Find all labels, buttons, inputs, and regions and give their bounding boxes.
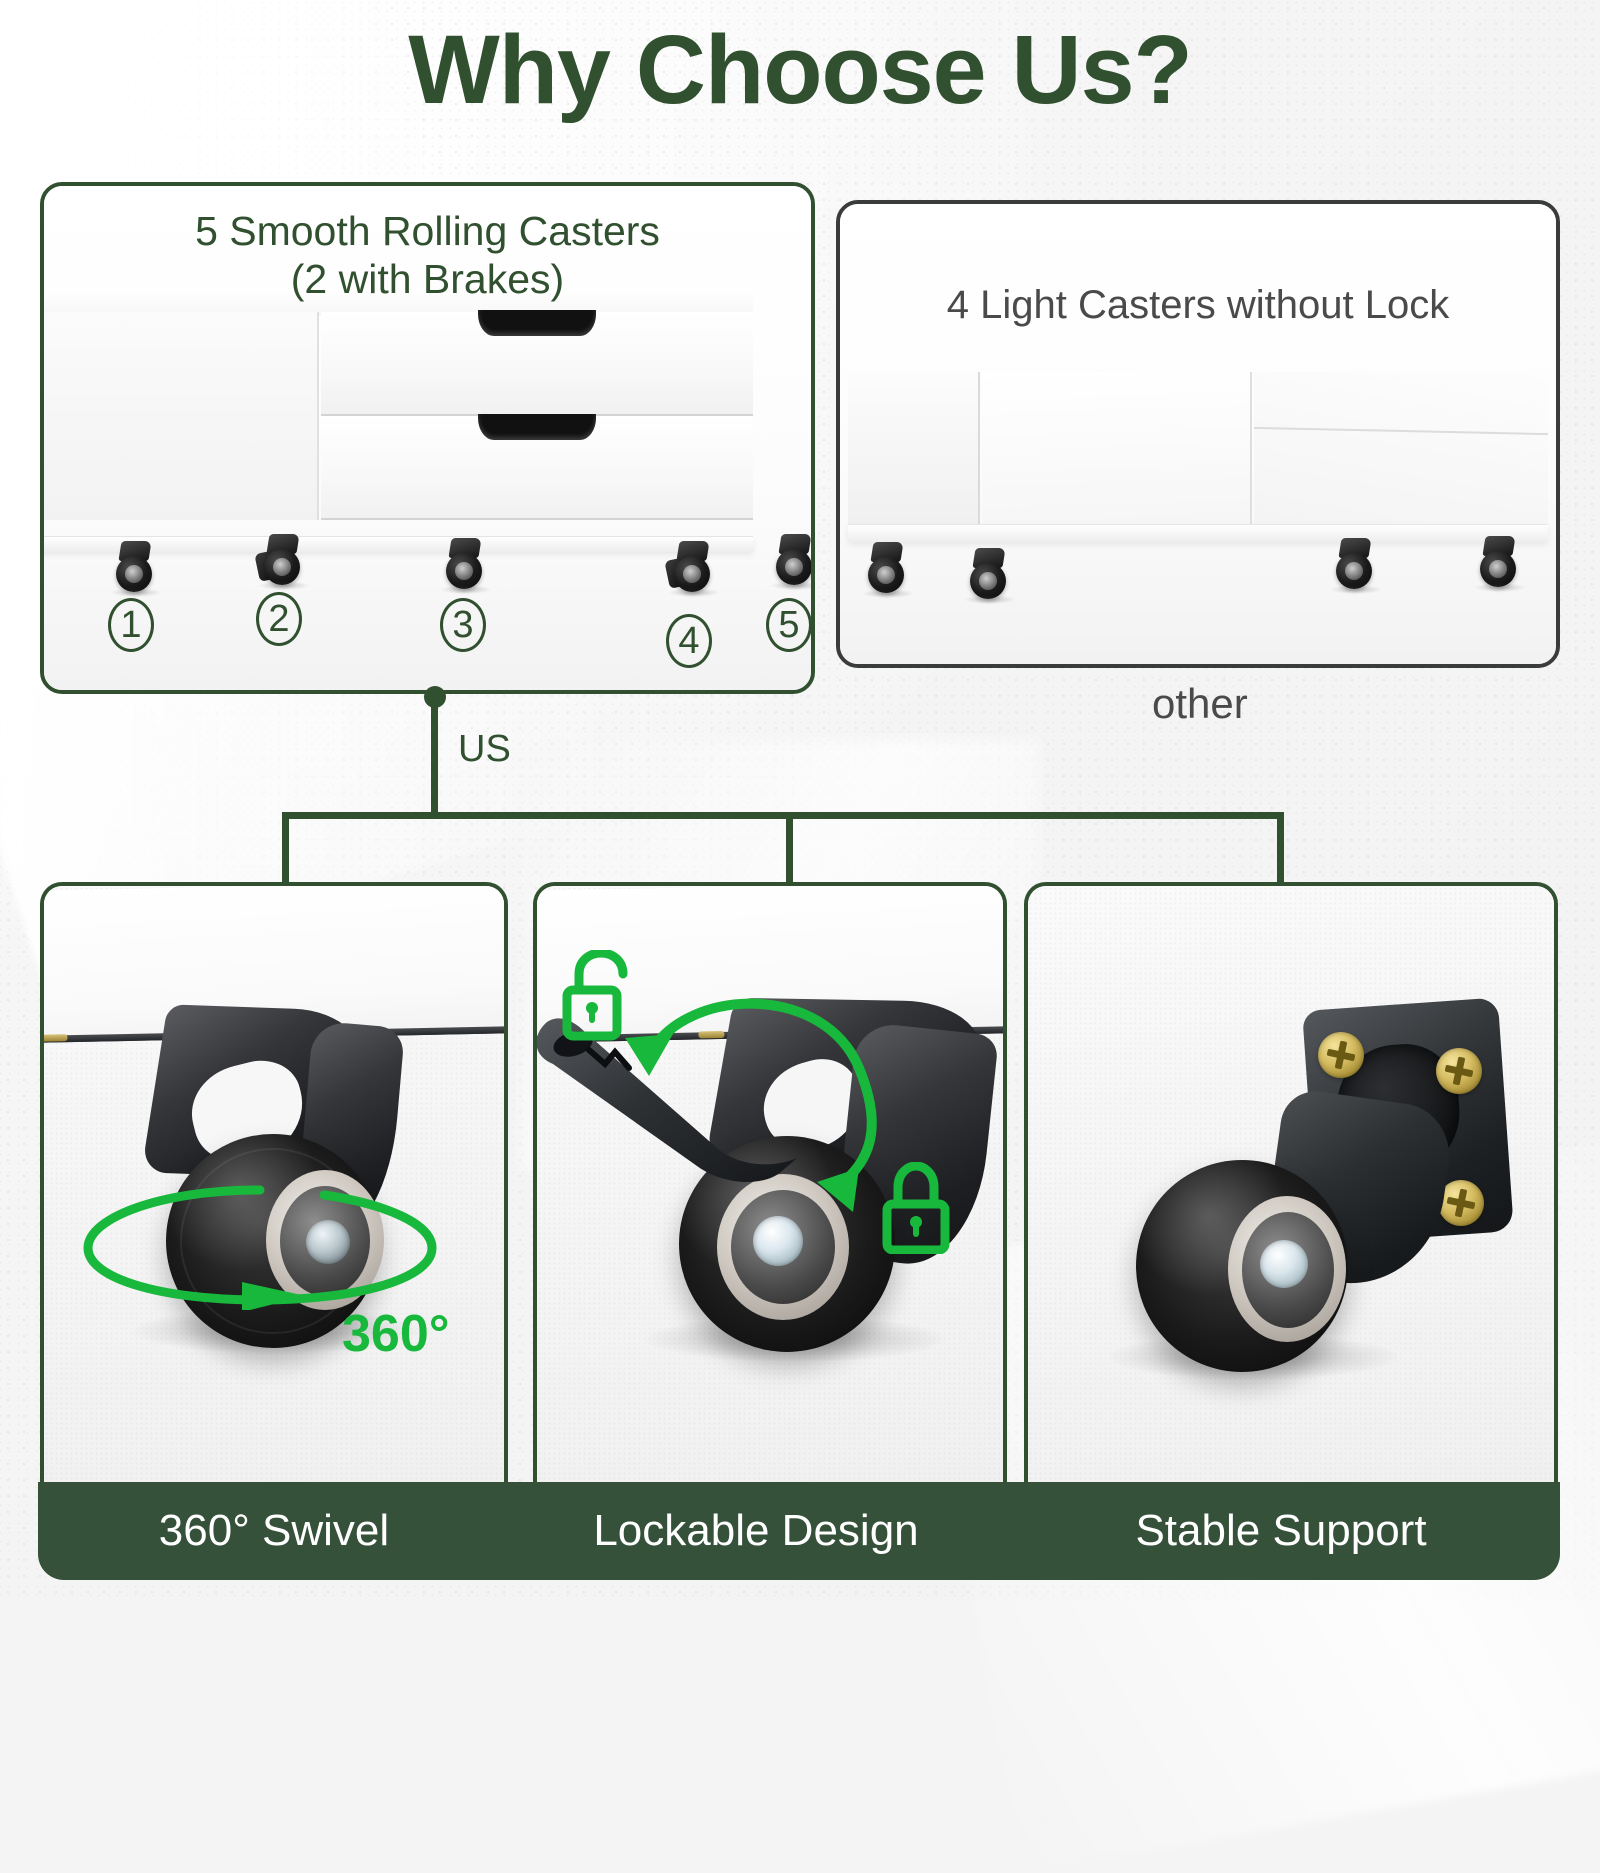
caster-2	[262, 534, 306, 586]
caster-hub	[455, 562, 473, 580]
plate-caster-photo	[1126, 1004, 1482, 1404]
label-other: other	[1152, 680, 1248, 728]
screw-icon	[1436, 1048, 1482, 1094]
caster-hub	[979, 572, 997, 590]
caster-hub	[1345, 562, 1363, 580]
caster-shadow	[964, 595, 1016, 604]
feature-label-band: 360° Swivel Lockable Design Stable Suppo…	[38, 1482, 1560, 1580]
white-cabinet	[848, 372, 1548, 542]
connector-vertical-branch-1	[282, 812, 289, 884]
connector-vertical-main	[431, 697, 438, 815]
cabinet-segment-left	[848, 372, 980, 524]
us-panel-caption: 5 Smooth Rolling Casters (2 with Brakes)	[44, 208, 811, 303]
caster-3	[444, 538, 488, 590]
white-dresser	[40, 298, 753, 538]
feature-label-360-swivel: 360° Swivel	[38, 1482, 510, 1580]
caster-hub	[273, 558, 291, 576]
caster-5	[774, 534, 815, 586]
page-title: Why Choose Us?	[0, 18, 1600, 123]
caster-hub	[877, 566, 895, 584]
screw-icon	[1318, 1032, 1364, 1078]
panel-feature-lockable-design	[533, 882, 1007, 1492]
annotation-360-degrees: 360°	[342, 1304, 450, 1364]
caster-number-badge-2: 2	[256, 592, 302, 646]
other-caster-3	[1334, 538, 1378, 590]
cabinet-base-rail	[848, 524, 1548, 542]
connector-horizontal-bar	[282, 812, 1284, 819]
other-caster-2	[968, 548, 1012, 600]
label-us: US	[458, 728, 511, 771]
caster-shadow	[1330, 585, 1382, 594]
caster-axle-bolt	[1260, 1240, 1308, 1288]
connector-vertical-branch-2	[786, 812, 793, 884]
swivel-caster-photo	[128, 1008, 458, 1348]
caster-1	[114, 541, 158, 593]
other-panel-caption: 4 Light Casters without Lock	[840, 282, 1556, 328]
caster-shadow	[258, 581, 310, 590]
drawer-handle-icon	[478, 310, 596, 336]
caster-shadow	[440, 585, 492, 594]
dresser-drawer-column	[321, 312, 753, 520]
caster-axle-bolt	[753, 1216, 803, 1266]
caster-shadow	[770, 581, 815, 590]
mounting-screw	[41, 1034, 67, 1042]
caster-hub	[785, 558, 803, 576]
drawer-handle-icon	[478, 414, 596, 440]
panel-other-casters: 4 Light Casters without Lock	[836, 200, 1560, 668]
caster-number-badge-4: 4	[666, 614, 712, 668]
panel-feature-360-swivel: 360°	[40, 882, 508, 1492]
caster-shadow	[110, 588, 162, 597]
other-caster-4	[1478, 536, 1522, 588]
cabinet-segment-right	[1254, 372, 1548, 524]
caster-shadow	[668, 588, 720, 597]
other-product-photo	[840, 204, 1556, 664]
caster-number-badge-5: 5	[766, 598, 812, 652]
dresser-drawer	[321, 416, 753, 520]
caster-shadow	[862, 589, 914, 598]
feature-label-lockable-design: Lockable Design	[510, 1482, 1002, 1580]
lock-closed-padlock-icon	[879, 1162, 953, 1254]
caster-hub	[683, 565, 701, 583]
panel-us-casters: 1 2 3 4 5 5 Smooth Rolling Casters (2 wi…	[40, 182, 815, 694]
panel-feature-stable-support	[1024, 882, 1558, 1492]
other-caster-1	[866, 542, 910, 594]
caster-number-badge-1: 1	[108, 598, 154, 652]
caster-shadow	[1474, 583, 1526, 592]
feature-label-stable-support: Stable Support	[1002, 1482, 1560, 1580]
caster-hub	[125, 565, 143, 583]
caster-hub	[1489, 560, 1507, 578]
caster-number-badge-3: 3	[440, 598, 486, 652]
cabinet-segment-middle	[982, 372, 1252, 524]
connector-vertical-branch-3	[1277, 812, 1284, 884]
dresser-left-cabinet	[40, 312, 319, 520]
caster-4	[672, 541, 716, 593]
unlock-open-padlock-icon	[561, 950, 635, 1042]
caster-axle-bolt	[306, 1220, 350, 1264]
dresser-drawer	[321, 312, 753, 416]
